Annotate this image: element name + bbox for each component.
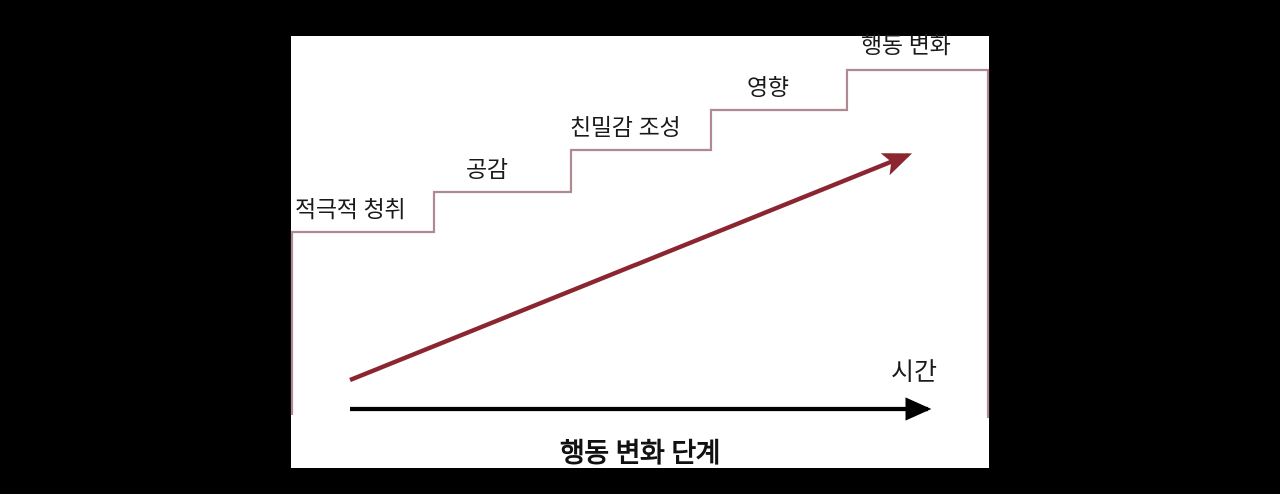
step-label-active-listening: 적극적 청취 [295,198,405,221]
step-label-rapport-building: 친밀감 조성 [570,116,680,139]
step-label-influence: 영향 [747,76,789,99]
chart-title: 행동 변화 단계 [291,440,989,467]
step-label-behavior-change: 행동 변화 [861,34,951,57]
diagram-white-panel [291,36,989,468]
step-label-empathy: 공감 [466,158,508,181]
diagram-canvas: 적극적 청취 공감 친밀감 조성 영향 행동 변화 시간 행동 변화 단계 [0,0,1280,494]
time-axis-label: 시간 [891,360,937,385]
